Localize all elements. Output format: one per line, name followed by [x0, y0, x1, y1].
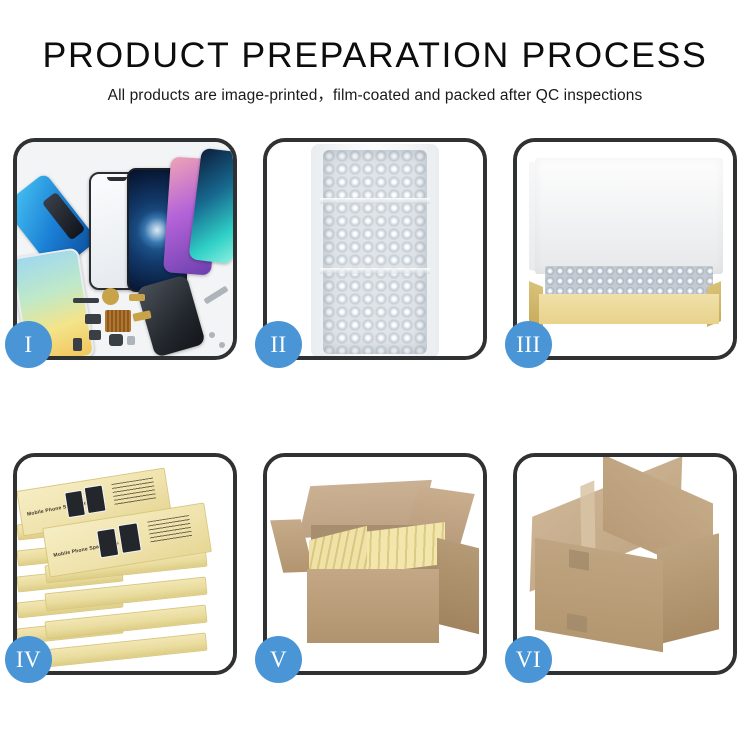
- part-camera-module: [109, 334, 123, 346]
- process-step-panel-1: I: [13, 138, 237, 360]
- box-contents-bubble-wrapped: [545, 266, 713, 296]
- part-small-module-b: [89, 330, 101, 340]
- part-speaker-coil: [102, 288, 119, 305]
- retail-box-screen-image-left-a: [64, 490, 86, 518]
- process-step-panel-4: Mobile Phone Spare Parts Mobile Phone Sp…: [13, 453, 237, 675]
- step-badge-5: V: [255, 636, 302, 683]
- retail-box-spec-lines-right: [147, 515, 192, 543]
- part-connector-gold: [129, 294, 145, 301]
- retail-box-spec-lines-left: [111, 477, 156, 505]
- part-screw-b: [219, 342, 225, 348]
- process-step-panel-3: III: [513, 138, 737, 360]
- tool-tweezers: [203, 286, 228, 305]
- process-steps-grid: I II III: [13, 138, 737, 675]
- step-badge-1: I: [5, 321, 52, 368]
- header: PRODUCT PREPARATION PROCESS All products…: [0, 36, 750, 106]
- bubble-wrap-seam-top: [320, 198, 430, 204]
- sealed-carton-tab-upper: [569, 549, 589, 571]
- part-flex-strip: [73, 298, 99, 303]
- page-title: PRODUCT PREPARATION PROCESS: [0, 36, 750, 76]
- bubble-wrap-seam-bottom: [320, 268, 430, 274]
- step-badge-2: II: [255, 321, 302, 368]
- sealed-carton-front-panel: [535, 538, 663, 653]
- part-screw-a: [209, 332, 215, 338]
- process-step-panel-6: VI: [513, 453, 737, 675]
- box-front-panel: [539, 294, 719, 324]
- step-badge-6: VI: [505, 636, 552, 683]
- carton-front-panel: [307, 569, 439, 643]
- part-small-module-a: [85, 314, 101, 324]
- process-step-panel-2: II: [263, 138, 487, 360]
- step-image-bubble-wrap: [267, 142, 483, 356]
- infographic-page: PRODUCT PREPARATION PROCESS All products…: [0, 0, 750, 750]
- step-image-phones-and-parts: [17, 142, 233, 356]
- sealed-carton-tab-lower: [567, 613, 587, 633]
- step-image-foam-inner-box: [517, 142, 733, 356]
- step-image-open-shipping-carton: [267, 457, 483, 671]
- retail-box-screen-image-right-a: [96, 528, 119, 559]
- step-badge-4: IV: [5, 636, 52, 683]
- sealed-carton-side-panel: [657, 533, 719, 644]
- step-image-stacked-retail-boxes: Mobile Phone Spare Parts Mobile Phone Sp…: [17, 457, 233, 671]
- bubble-wrap-sheet: [323, 150, 427, 354]
- part-metal-bracket: [127, 336, 135, 345]
- retail-box-screen-image-right-b: [118, 522, 142, 554]
- part-chip-array: [105, 310, 131, 332]
- page-subtitle: All products are image-printed，film-coat…: [0, 86, 750, 106]
- step-badge-3: III: [505, 321, 552, 368]
- box-foam-lining: [535, 158, 723, 274]
- process-step-panel-5: V: [263, 453, 487, 675]
- part-sim-tray: [73, 338, 82, 351]
- carton-side-panel: [437, 538, 479, 634]
- step-image-sealed-shipping-carton: [517, 457, 733, 671]
- retail-box-screen-image-left-b: [84, 484, 107, 514]
